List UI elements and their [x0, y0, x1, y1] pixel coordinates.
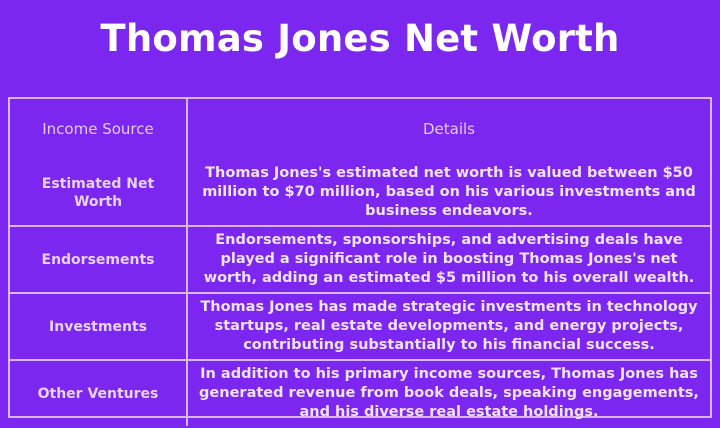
column-header-details: Details	[187, 99, 710, 160]
table-body: Estimated Net Worth Thomas Jones's estim…	[10, 160, 710, 426]
net-worth-infographic: Thomas Jones Net Worth Income Source Det…	[0, 0, 720, 428]
table-row: Estimated Net Worth Thomas Jones's estim…	[10, 160, 710, 226]
net-worth-table: Income Source Details Estimated Net Wort…	[10, 99, 710, 426]
row-details-endorsements: Endorsements, sponsorships, and advertis…	[187, 226, 710, 293]
table-row: Investments Thomas Jones has made strate…	[10, 293, 710, 360]
row-label-other-ventures: Other Ventures	[10, 360, 187, 426]
table-header: Income Source Details	[10, 99, 710, 160]
table-row: Other Ventures In addition to his primar…	[10, 360, 710, 426]
row-label-investments: Investments	[10, 293, 187, 360]
row-label-estimated-net-worth: Estimated Net Worth	[10, 160, 187, 226]
row-label-endorsements: Endorsements	[10, 226, 187, 293]
row-details-estimated-net-worth: Thomas Jones's estimated net worth is va…	[187, 160, 710, 226]
column-header-income-source: Income Source	[10, 99, 187, 160]
page-title: Thomas Jones Net Worth	[0, 16, 720, 62]
row-details-other-ventures: In addition to his primary income source…	[187, 360, 710, 426]
row-details-investments: Thomas Jones has made strategic investme…	[187, 293, 710, 360]
table-row: Endorsements Endorsements, sponsorships,…	[10, 226, 710, 293]
net-worth-table-container: Income Source Details Estimated Net Wort…	[8, 97, 712, 418]
table-header-row: Income Source Details	[10, 99, 710, 160]
